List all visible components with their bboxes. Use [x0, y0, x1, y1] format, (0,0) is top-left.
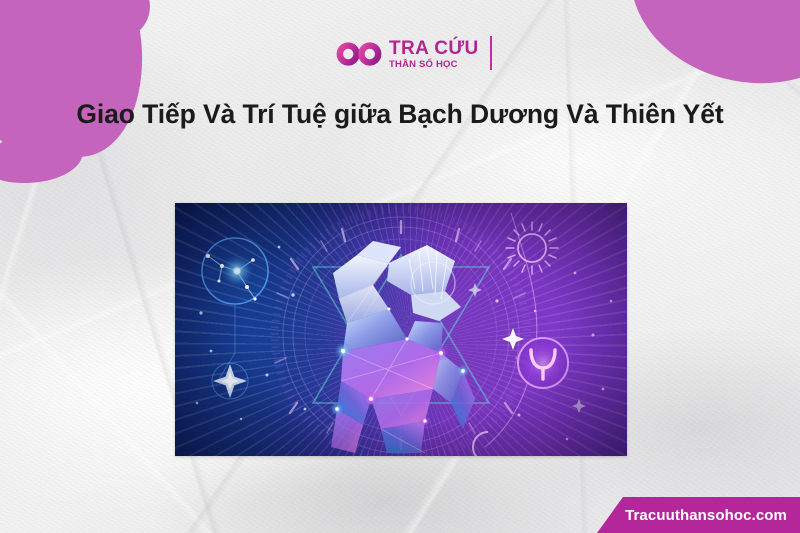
brand-logo[interactable]: TRA CỨU THẦN SỐ HỌC: [336, 30, 488, 78]
logo-divider-rule: [490, 36, 492, 70]
infinity-logo-icon: [336, 39, 382, 69]
logo-line2: THẦN SỐ HỌC: [389, 60, 479, 70]
poster-canvas: TRA CỨU THẦN SỐ HỌC Giao Tiếp Và Trí Tuệ…: [0, 0, 800, 533]
website-url-text: Tracuuthansohoc.com: [625, 507, 787, 524]
logo-line1: TRA CỨU: [389, 39, 479, 58]
page-title: Giao Tiếp Và Trí Tuệ giữa Bạch Dương Và …: [60, 96, 740, 134]
hero-illustration: [175, 203, 627, 456]
website-banner[interactable]: Tracuuthansohoc.com: [597, 497, 800, 533]
hero-vignette: [175, 203, 627, 456]
logo-wordmark: TRA CỨU THẦN SỐ HỌC: [389, 38, 479, 70]
